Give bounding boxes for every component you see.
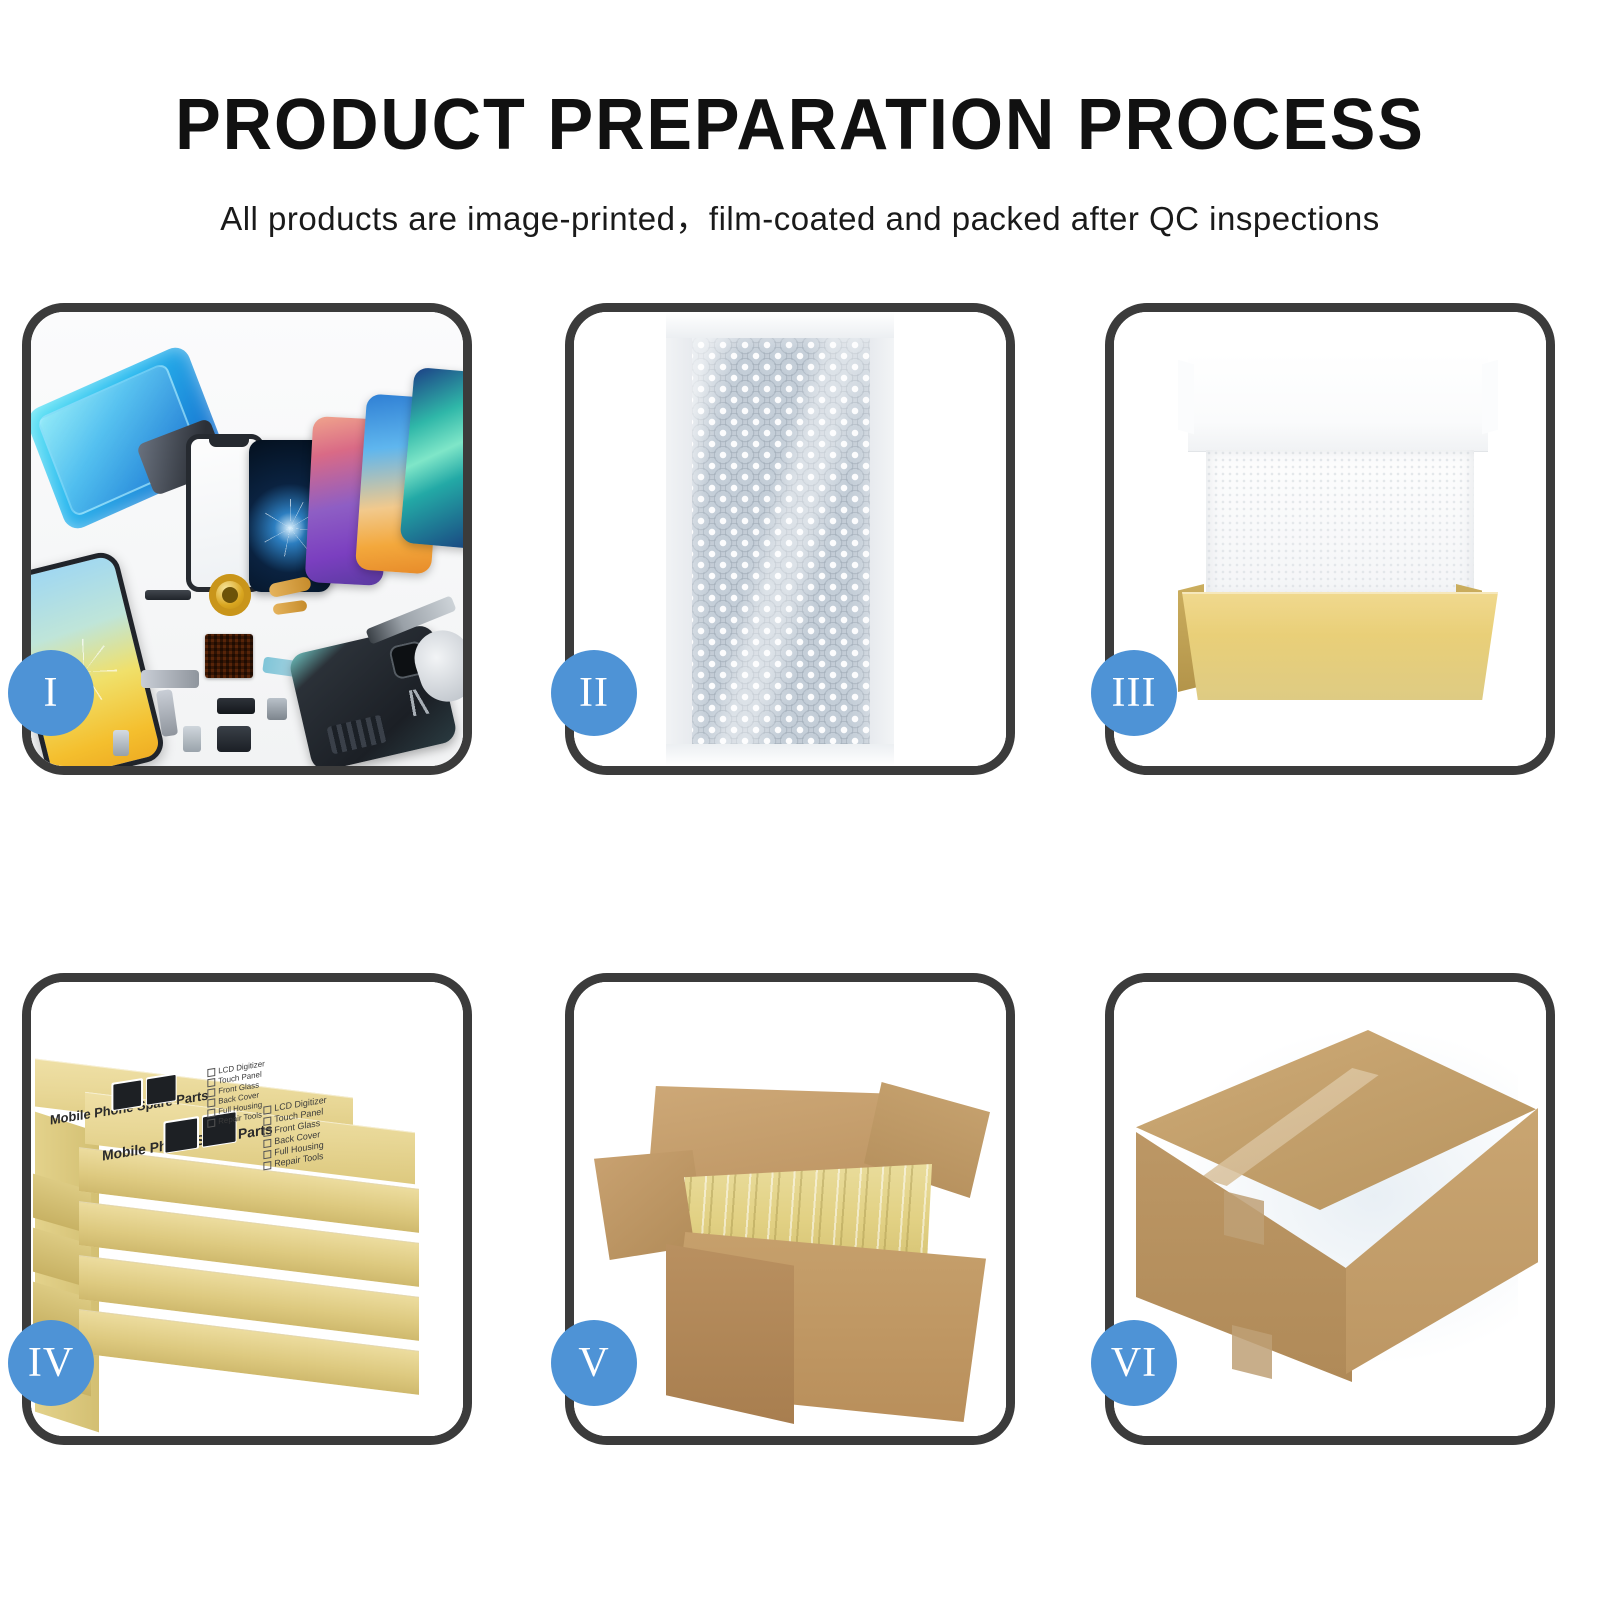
wrap-bag-graphic bbox=[666, 312, 894, 766]
box-window-thumb bbox=[111, 1078, 142, 1111]
retail-stack-scene: Mobile Phone Spare Parts Mobile Phone Sp… bbox=[31, 982, 463, 1436]
retail-box-checklist-front: LCD Digitizer Touch Panel Front Glass Ba… bbox=[263, 1095, 326, 1172]
earpiece-speaker-graphic bbox=[145, 590, 191, 600]
header: PRODUCT PREPARATION PROCESS All products… bbox=[0, 0, 1600, 240]
retail-box-checklist-rear: LCD Digitizer Touch Panel Front Glass Ba… bbox=[207, 1059, 264, 1129]
step-image-4: Mobile Phone Spare Parts Mobile Phone Sp… bbox=[31, 982, 463, 1436]
wrap-seal-top-graphic bbox=[666, 312, 894, 338]
step-panel-1: I bbox=[22, 303, 472, 775]
step-panel-5: V bbox=[565, 973, 1015, 1445]
step-panel-4: Mobile Phone Spare Parts Mobile Phone Sp… bbox=[22, 973, 472, 1445]
vibration-motor-graphic bbox=[267, 698, 287, 720]
small-part-3-graphic bbox=[113, 730, 129, 756]
carton-filled-scene bbox=[574, 982, 1006, 1436]
inner-box-scene bbox=[1114, 312, 1546, 766]
step-image-6 bbox=[1114, 982, 1546, 1436]
step-image-3 bbox=[1114, 312, 1546, 766]
step-badge-4: IV bbox=[8, 1320, 94, 1406]
bubble-wrap-scene bbox=[574, 312, 1006, 766]
phone-teal-graphic bbox=[399, 367, 463, 549]
step-badge-1: I bbox=[8, 650, 94, 736]
step-badge-6: VI bbox=[1091, 1320, 1177, 1406]
sim-tray-graphic bbox=[183, 726, 201, 752]
ic-chip-graphic bbox=[205, 634, 253, 678]
wrap-seal-bottom-graphic bbox=[666, 744, 894, 766]
step-panel-3: III bbox=[1105, 303, 1555, 775]
box-tray-front-graphic bbox=[1182, 592, 1498, 700]
step-image-1 bbox=[31, 312, 463, 766]
box-window-thumb bbox=[145, 1073, 176, 1106]
flex-cable-d-graphic bbox=[141, 670, 199, 688]
small-part-1-graphic bbox=[217, 698, 255, 714]
infographic-page: PRODUCT PREPARATION PROCESS All products… bbox=[0, 0, 1600, 1600]
page-subtitle: All products are image-printed，film-coat… bbox=[0, 192, 1600, 240]
step-panel-6: VI bbox=[1105, 973, 1555, 1445]
flex-cable-b-graphic bbox=[272, 600, 307, 616]
step-badge-5: V bbox=[551, 1320, 637, 1406]
bubble-pattern-graphic bbox=[692, 336, 870, 766]
step-grid: I II bbox=[22, 303, 1578, 1448]
step-panel-2: II bbox=[565, 303, 1015, 775]
box-lid-graphic bbox=[1188, 352, 1488, 452]
carton-front-face-graphic bbox=[666, 1244, 794, 1424]
carton-tab-lower-graphic bbox=[1232, 1325, 1272, 1379]
wireless-coil-graphic bbox=[209, 574, 251, 616]
parts-scene bbox=[31, 312, 463, 766]
carton-sealed-scene bbox=[1114, 982, 1546, 1436]
step-image-2 bbox=[574, 312, 1006, 766]
small-part-2-graphic bbox=[217, 726, 251, 752]
box-window-thumb bbox=[163, 1116, 198, 1154]
step-badge-2: II bbox=[551, 650, 637, 736]
step-image-5 bbox=[574, 982, 1006, 1436]
step-badge-3: III bbox=[1091, 650, 1177, 736]
foam-liner-graphic bbox=[1206, 450, 1474, 598]
page-title: PRODUCT PREPARATION PROCESS bbox=[40, 84, 1560, 166]
